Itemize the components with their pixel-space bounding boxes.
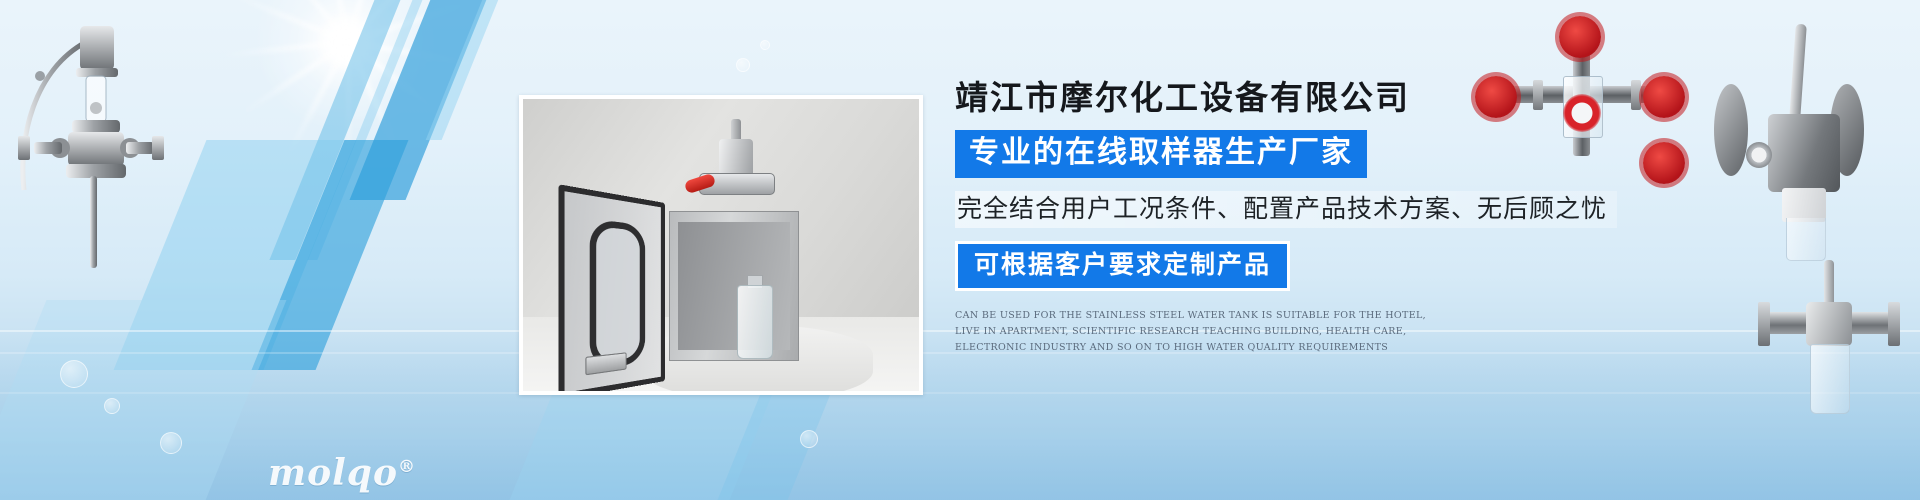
- subheadline-text: 完全结合用户工况条件、配置产品技术方案、无后顾之忧: [955, 191, 1617, 228]
- promotional-banner: 靖江市摩尔化工设备有限公司 专业的在线取样器生产厂家 完全结合用户工况条件、配置…: [0, 0, 1920, 500]
- water-bubble: [160, 432, 182, 454]
- company-title: 靖江市摩尔化工设备有限公司: [955, 78, 1755, 118]
- headline-badge: 专业的在线取样器生产厂家: [955, 130, 1367, 178]
- water-bubble: [800, 430, 818, 448]
- water-bubble: [104, 398, 120, 414]
- center-product-photo: [519, 95, 923, 395]
- watermark-logo: molqo®: [268, 452, 416, 494]
- watermark-text: molqo: [268, 452, 398, 494]
- banner-text-block: 靖江市摩尔化工设备有限公司 专业的在线取样器生产厂家 完全结合用户工况条件、配置…: [955, 78, 1755, 356]
- diagonal-stripe: [307, 0, 438, 260]
- horizon-line: [0, 392, 1920, 394]
- water-bubble: [760, 40, 770, 50]
- handwheel-icon: [1559, 16, 1601, 58]
- lower-valve-illustration: [1760, 278, 1900, 428]
- secondary-badge: 可根据客户要求定制产品: [955, 241, 1290, 291]
- diagonal-stripe: [269, 0, 416, 260]
- diagonal-stripe: [350, 0, 503, 200]
- sunburst-decoration: [242, 0, 450, 146]
- water-bubble: [60, 360, 88, 388]
- water-bubble: [736, 58, 750, 72]
- left-product-illustration: [10, 18, 175, 278]
- registered-mark-icon: ®: [398, 457, 416, 477]
- diagonal-stripe: [426, 0, 515, 140]
- english-caption: CAN BE USED FOR THE STAINLESS STEEL WATE…: [955, 308, 1453, 356]
- cabinet-door: [559, 184, 665, 395]
- sampling-valve-icon: [699, 121, 773, 217]
